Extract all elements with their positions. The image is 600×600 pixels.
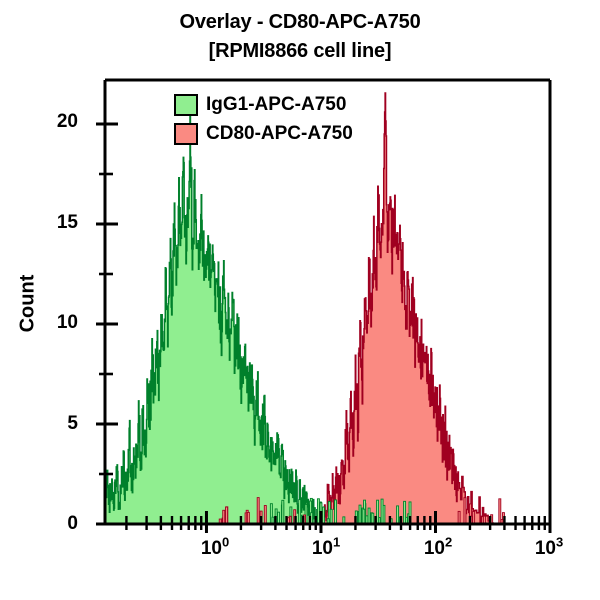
legend-item-igg1: IgG1-APC-A750 — [174, 90, 353, 119]
baseline-event-igg1 — [381, 499, 383, 524]
legend-label-cd80: CD80-APC-A750 — [206, 123, 353, 145]
baseline-event-cd80 — [257, 498, 259, 524]
legend-swatch-cd80 — [174, 123, 198, 145]
legend-item-cd80: CD80-APC-A750 — [174, 119, 353, 148]
baseline-event-igg1 — [335, 500, 337, 524]
baseline-event-igg1 — [368, 508, 370, 524]
baseline-event-igg1 — [372, 513, 374, 524]
series-layer — [105, 93, 504, 524]
legend: IgG1-APC-A750 CD80-APC-A750 — [174, 90, 353, 148]
baseline-event-igg1 — [299, 500, 301, 524]
series-fill-igg1 — [105, 104, 361, 524]
legend-label-igg1: IgG1-APC-A750 — [206, 94, 346, 116]
baseline-event-igg1 — [404, 501, 406, 524]
baseline-event-cd80 — [464, 498, 466, 524]
flow-cytometry-overlay-figure: Overlay - CD80-APC-A750 [RPMI8866 cell l… — [0, 0, 600, 600]
baseline-event-cd80 — [226, 507, 228, 524]
baseline-event-igg1 — [322, 507, 324, 524]
baseline-event-cd80 — [473, 511, 475, 524]
legend-swatch-igg1 — [174, 94, 198, 116]
baseline-event-igg1 — [330, 509, 332, 524]
baseline-event-igg1 — [397, 506, 399, 524]
baseline-event-igg1 — [377, 500, 379, 524]
baseline-event-cd80 — [223, 510, 225, 524]
baseline-event-igg1 — [363, 509, 365, 524]
baseline-event-cd80 — [264, 506, 266, 524]
baseline-event-cd80 — [458, 511, 460, 524]
baseline-event-igg1 — [278, 512, 280, 524]
baseline-event-igg1 — [282, 500, 284, 524]
baseline-event-igg1 — [317, 499, 319, 524]
baseline-event-igg1 — [359, 505, 361, 524]
baseline-event-cd80 — [247, 512, 249, 524]
